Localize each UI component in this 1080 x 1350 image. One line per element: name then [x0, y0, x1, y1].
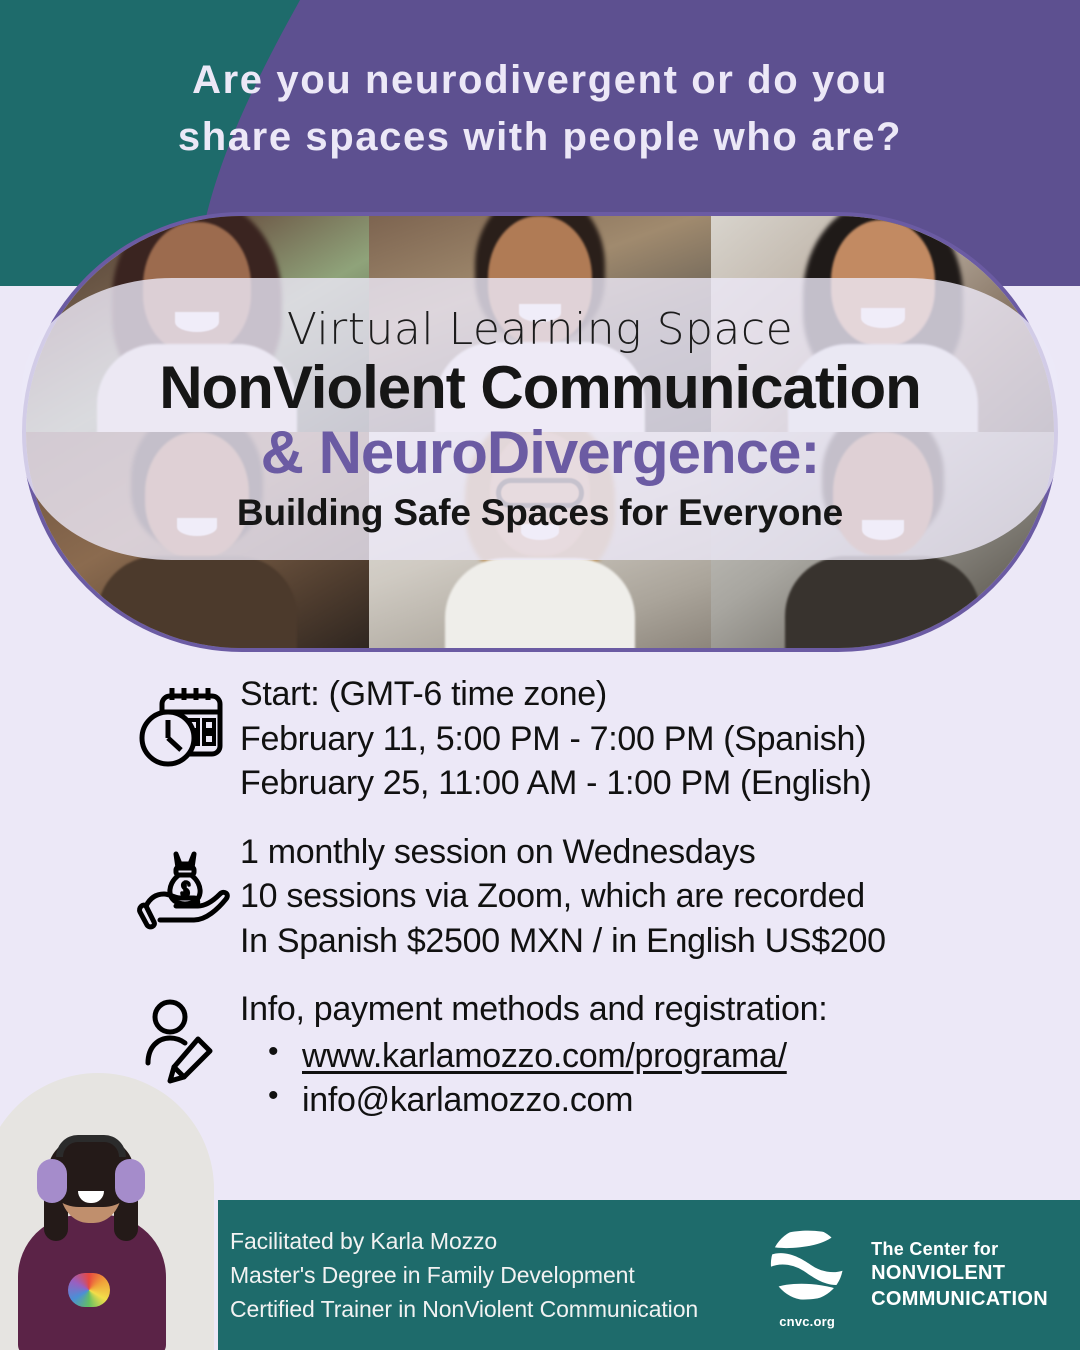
email-link[interactable]: info@karlamozzo.com: [302, 1081, 633, 1119]
pricing-line-3: In Spanish $2500 MXN / in English US$200: [240, 919, 886, 964]
title-subtitle: Building Safe Spaces for Everyone: [237, 492, 843, 534]
cnvc-wordmark: The Center for NONVIOLENT COMMUNICATION: [871, 1238, 1048, 1312]
schedule-line-2: February 11, 5:00 PM - 7:00 PM (Spanish): [240, 717, 871, 762]
pricing-line-1: 1 monthly session on Wednesdays: [240, 830, 886, 875]
headphone-earcup-right: [115, 1159, 145, 1203]
hand-money-bag-icon: [136, 830, 240, 932]
cnvc-word-2: NONVIOLENT: [871, 1261, 1048, 1287]
website-link[interactable]: www.karlamozzo.com/programa/: [302, 1037, 787, 1075]
facilitator-name: Facilitated by Karla Mozzo: [230, 1224, 759, 1258]
cnvc-word-3: COMMUNICATION: [871, 1287, 1048, 1313]
facilitator-credentials: Facilitated by Karla Mozzo Master's Degr…: [218, 1224, 759, 1326]
headline-line-2: share spaces with people who are?: [60, 109, 1020, 166]
registration-links: www.karlamozzo.com/programa/ info@karlam…: [240, 1034, 827, 1123]
title-kicker: Virtual Learning Space: [287, 304, 793, 355]
headphones-band-icon: [56, 1135, 126, 1157]
cnvc-word-1: The Center for: [871, 1238, 1048, 1261]
schedule-text: Start: (GMT-6 time zone) February 11, 5:…: [240, 672, 871, 806]
headphone-earcup-left: [37, 1159, 67, 1203]
facilitator-certification: Certified Trainer in NonViolent Communic…: [230, 1292, 759, 1326]
info-section: Start: (GMT-6 time zone) February 11, 5:…: [0, 672, 1080, 1123]
title-main: NonViolent Communication: [159, 357, 921, 419]
info-row-pricing: 1 monthly session on Wednesdays 10 sessi…: [0, 830, 1080, 964]
title-accent: & NeuroDivergence:: [261, 419, 820, 486]
calendar-clock-icon: [136, 672, 240, 774]
title-card: Virtual Learning Space NonViolent Commun…: [22, 278, 1058, 560]
pricing-line-2: 10 sessions via Zoom, which are recorded: [240, 874, 886, 919]
cnvc-url: cnvc.org: [759, 1314, 855, 1329]
list-item[interactable]: www.karlamozzo.com/programa/: [240, 1034, 827, 1079]
pricing-text: 1 monthly session on Wednesdays 10 sessi…: [240, 830, 886, 964]
cnvc-logo: cnvc.org The Center for NONVIOLENT COMMU…: [759, 1221, 1080, 1329]
schedule-line-3: February 25, 11:00 AM - 1:00 PM (English…: [240, 761, 871, 806]
registration-text: Info, payment methods and registration: …: [240, 987, 827, 1123]
info-row-schedule: Start: (GMT-6 time zone) February 11, 5:…: [0, 672, 1080, 806]
registration-heading: Info, payment methods and registration:: [240, 987, 827, 1032]
headline-line-1: Are you neurodivergent or do you: [60, 52, 1020, 109]
cnvc-globe-logo-icon: [764, 1294, 850, 1311]
headline: Are you neurodivergent or do you share s…: [0, 52, 1080, 166]
facilitator-degree: Master's Degree in Family Development: [230, 1258, 759, 1292]
fidget-toy: [68, 1273, 110, 1307]
schedule-line-1: Start: (GMT-6 time zone): [240, 672, 871, 717]
footer-bar: Facilitated by Karla Mozzo Master's Degr…: [218, 1200, 1080, 1350]
facilitator-photo: [0, 1073, 214, 1350]
list-item[interactable]: info@karlamozzo.com: [240, 1078, 827, 1123]
